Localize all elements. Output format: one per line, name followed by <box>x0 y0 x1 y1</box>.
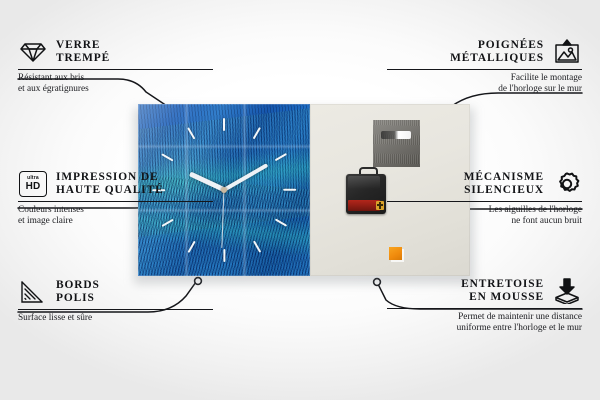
feature-mecanisme-silencieux: MÉCANISME SILENCIEUX Les aiguilles de l'… <box>387 170 582 227</box>
feature-divider <box>18 69 213 70</box>
infographic-canvas: VERRE TREMPÉ Résistant aux bris et aux é… <box>0 0 600 400</box>
foam-spacer-icon <box>552 277 582 305</box>
feature-bords-polis: BORDS POLIS Surface lisse et sûre <box>18 278 213 324</box>
feature-verre-trempe: VERRE TREMPÉ Résistant aux bris et aux é… <box>18 38 213 95</box>
feature-description: Couleurs intenses et image claire <box>18 205 213 227</box>
feature-title: VERRE TREMPÉ <box>56 39 110 66</box>
battery-terminal-icon <box>376 201 384 210</box>
feature-divider <box>18 201 213 202</box>
feature-divider <box>387 69 582 70</box>
feature-impression-haute-qualite: ultra HD IMPRESSION DE HAUTE QUALITÉ Cou… <box>18 170 213 227</box>
hanger-slot <box>381 131 411 139</box>
movement-body <box>346 174 386 214</box>
picture-hanger-icon <box>552 38 582 66</box>
metal-hanger-plate <box>373 120 420 167</box>
polished-edge-icon <box>18 278 48 306</box>
feature-description: Surface lisse et sûre <box>18 313 213 324</box>
feature-description: Résistant aux bris et aux égratignures <box>18 73 213 95</box>
feature-divider <box>18 309 213 310</box>
feature-divider <box>387 201 582 202</box>
feature-title: IMPRESSION DE HAUTE QUALITÉ <box>56 171 164 198</box>
feature-divider <box>387 308 582 309</box>
feature-description: Permet de maintenir une distance uniform… <box>387 312 582 334</box>
movement-highlight <box>348 176 380 189</box>
foam-spacer <box>389 247 402 260</box>
hd-badge-large-text: HD <box>26 182 41 192</box>
feature-title: ENTRETOISE EN MOUSSE <box>461 278 544 305</box>
gear-icon <box>552 170 582 198</box>
feature-description: Les aiguilles de l'horloge ne font aucun… <box>387 205 582 227</box>
feature-title: MÉCANISME SILENCIEUX <box>464 171 544 198</box>
feature-entretoise-en-mousse: ENTRETOISE EN MOUSSE Permet de maintenir… <box>387 277 582 334</box>
feature-poignees-metalliques: POIGNÉES MÉTALLIQUES Facilite le montage… <box>387 38 582 95</box>
feature-title: BORDS POLIS <box>56 279 100 306</box>
quartz-movement-box <box>346 172 386 214</box>
ultra-hd-icon: ultra HD <box>18 170 48 198</box>
feature-description: Facilite le montage de l'horloge sur le … <box>387 73 582 95</box>
diamond-icon <box>18 38 48 66</box>
feature-title: POIGNÉES MÉTALLIQUES <box>450 39 544 66</box>
